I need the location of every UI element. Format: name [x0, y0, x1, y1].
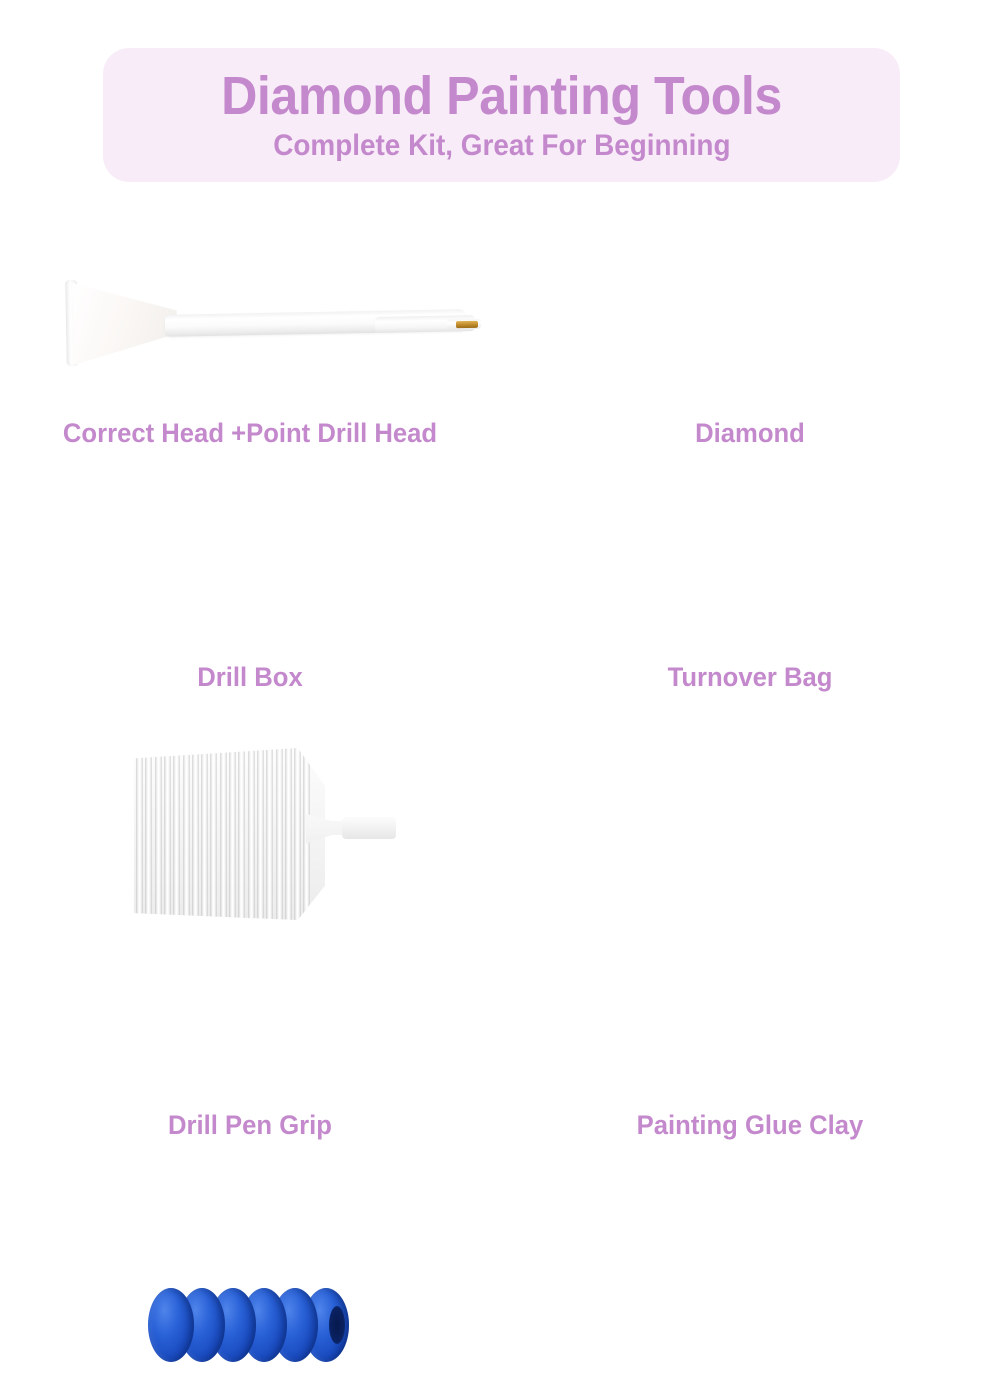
product-grid: Correct Head +Point Drill Head Diamond D… — [0, 200, 1000, 1000]
product-image-diamond — [500, 200, 1000, 450]
product-label-painting-glue-clay: Painting Glue Clay — [513, 1110, 988, 1141]
product-label-drill-box: Drill Box — [13, 662, 488, 693]
product-label-diamond: Diamond — [513, 418, 988, 449]
product-image-correct-head-point-drill-head — [0, 200, 500, 450]
product-card-diamond[interactable]: Diamond — [500, 200, 1000, 450]
product-image-drill-pen-grip — [0, 700, 500, 950]
product-label-drill-pen-grip: Drill Pen Grip — [13, 1110, 488, 1141]
drill-pen-illustration — [55, 270, 485, 380]
product-card-painting-glue-clay[interactable]: Painting Glue Clay — [500, 700, 1000, 950]
pen-correction-head — [72, 281, 178, 365]
pen-gold-tip-icon — [456, 320, 478, 327]
product-image-painting-glue-clay — [500, 700, 1000, 950]
product-card-drill-box[interactable]: Drill Box — [0, 450, 500, 700]
product-label-turnover-bag: Turnover Bag — [513, 662, 988, 693]
page-subtitle: Complete Kit, Great For Beginning — [273, 129, 730, 162]
product-card-turnover-bag[interactable]: Turnover Bag — [500, 450, 1000, 700]
product-card-correct-head-point-drill-head[interactable]: Correct Head +Point Drill Head — [0, 200, 500, 450]
pen-grip-hole — [329, 1306, 345, 1344]
pen-grip-ring — [148, 1288, 194, 1362]
product-label-correct-head-point-drill-head: Correct Head +Point Drill Head — [13, 418, 488, 449]
drill-pen-grip-illustration — [148, 1288, 358, 1368]
page-title: Diamond Painting Tools — [221, 68, 782, 125]
header-banner: Diamond Painting Tools Complete Kit, Gre… — [103, 48, 900, 182]
product-card-drill-pen-grip[interactable]: Drill Pen Grip — [0, 700, 500, 950]
